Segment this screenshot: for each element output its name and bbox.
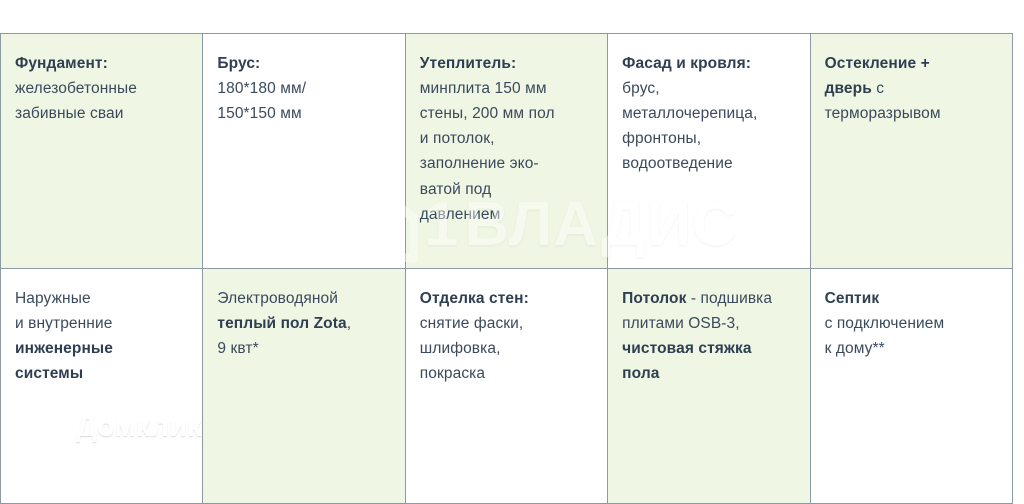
cell-line: 150*150 мм: [217, 101, 390, 126]
cell-content-wall-finishing: Отделка стен: снятие фаски, шлифовка, по…: [420, 286, 593, 386]
cell-line-suffix: ,: [347, 315, 351, 332]
cell-content-warm-floor: Электроводяной теплый пол Zota, 9 квт*: [217, 286, 390, 361]
cell-line: водоотведение: [622, 151, 795, 176]
cell-line: давлением: [420, 202, 593, 227]
cell-content-facade-roof: Фасад и кровля: брус, металлочерепица, ф…: [622, 51, 795, 177]
cell-line: дверь с: [825, 76, 998, 101]
cell-line: Фасад и кровля:: [622, 51, 795, 76]
cell-line: железобетонные: [15, 76, 188, 101]
table-cell-wall-finishing: Отделка стен: снятие фаски, шлифовка, по…: [405, 269, 607, 504]
cell-line: забивные сваи: [15, 101, 188, 126]
cell-line: ватой под: [420, 177, 593, 202]
cell-line: Септик: [825, 286, 998, 311]
table-cell-septic: Септик с подключением к дому**: [810, 269, 1012, 504]
cell-line: системы: [15, 361, 188, 386]
cell-line: плитами OSB-3,: [622, 311, 795, 336]
cell-content-glazing-door: Остекление + дверь с терморазрывом: [825, 51, 998, 126]
cell-line: инженерные: [15, 336, 188, 361]
table-cell-insulation: Утеплитель: минплита 150 мм стены, 200 м…: [405, 34, 607, 269]
table-cell-facade-roof: Фасад и кровля: брус, металлочерепица, ф…: [608, 34, 810, 269]
cell-line: 180*180 мм/: [217, 76, 390, 101]
cell-content-septic: Септик с подключением к дому**: [825, 286, 998, 361]
table-cell-ceiling: Потолок - подшивка плитами OSB-3, чистов…: [608, 269, 810, 504]
table-cell-warm-floor: Электроводяной теплый пол Zota, 9 квт*: [203, 269, 405, 504]
cell-line: брус,: [622, 76, 795, 101]
cell-line: Потолок - подшивка: [622, 286, 795, 311]
specification-table: Фундамент: железобетонные забивные сваи …: [0, 33, 1013, 504]
cell-line: металлочерепица,: [622, 101, 795, 126]
cell-line: и внутренние: [15, 311, 188, 336]
cell-content-ceiling: Потолок - подшивка плитами OSB-3, чистов…: [622, 286, 795, 386]
cell-line: заполнение эко-: [420, 151, 593, 176]
cell-line: Отделка стен:: [420, 286, 593, 311]
cell-content-foundation: Фундамент: железобетонные забивные сваи: [15, 51, 188, 126]
cell-line: шлифовка,: [420, 336, 593, 361]
cell-line: 9 квт*: [217, 336, 390, 361]
cell-line: к дому**: [825, 336, 998, 361]
table-cell-timber: Брус: 180*180 мм/ 150*150 мм: [203, 34, 405, 269]
cell-line: и потолок,: [420, 126, 593, 151]
table-row: Наружные и внутренние инженерные системы…: [1, 269, 1013, 504]
cell-content-engineering-systems: Наружные и внутренние инженерные системы: [15, 286, 188, 386]
cell-line: Наружные: [15, 286, 188, 311]
cell-line: минплита 150 мм: [420, 76, 593, 101]
cell-line: Брус:: [217, 51, 390, 76]
cell-line: стены, 200 мм пол: [420, 101, 593, 126]
cell-line: теплый пол Zota,: [217, 311, 390, 336]
cell-line: фронтоны,: [622, 126, 795, 151]
cell-line: снятие фаски,: [420, 311, 593, 336]
cell-line-suffix: с: [872, 80, 884, 97]
table-cell-foundation: Фундамент: железобетонные забивные сваи: [1, 34, 203, 269]
cell-line: чистовая стяжка: [622, 336, 795, 361]
cell-line: Утеплитель:: [420, 51, 593, 76]
cell-line: Остекление +: [825, 51, 998, 76]
cell-line: Электроводяной: [217, 286, 390, 311]
cell-line: с подключением: [825, 311, 998, 336]
table-row: Фундамент: железобетонные забивные сваи …: [1, 34, 1013, 269]
cell-line: покраска: [420, 361, 593, 386]
cell-line: Фундамент:: [15, 51, 188, 76]
cell-content-timber: Брус: 180*180 мм/ 150*150 мм: [217, 51, 390, 126]
cell-line: терморазрывом: [825, 101, 998, 126]
cell-content-insulation: Утеплитель: минплита 150 мм стены, 200 м…: [420, 51, 593, 227]
table-cell-glazing-door: Остекление + дверь с терморазрывом: [810, 34, 1012, 269]
cell-line-suffix: - подшивка: [686, 290, 772, 307]
cell-line: пола: [622, 361, 795, 386]
table-cell-engineering-systems: Наружные и внутренние инженерные системы: [1, 269, 203, 504]
